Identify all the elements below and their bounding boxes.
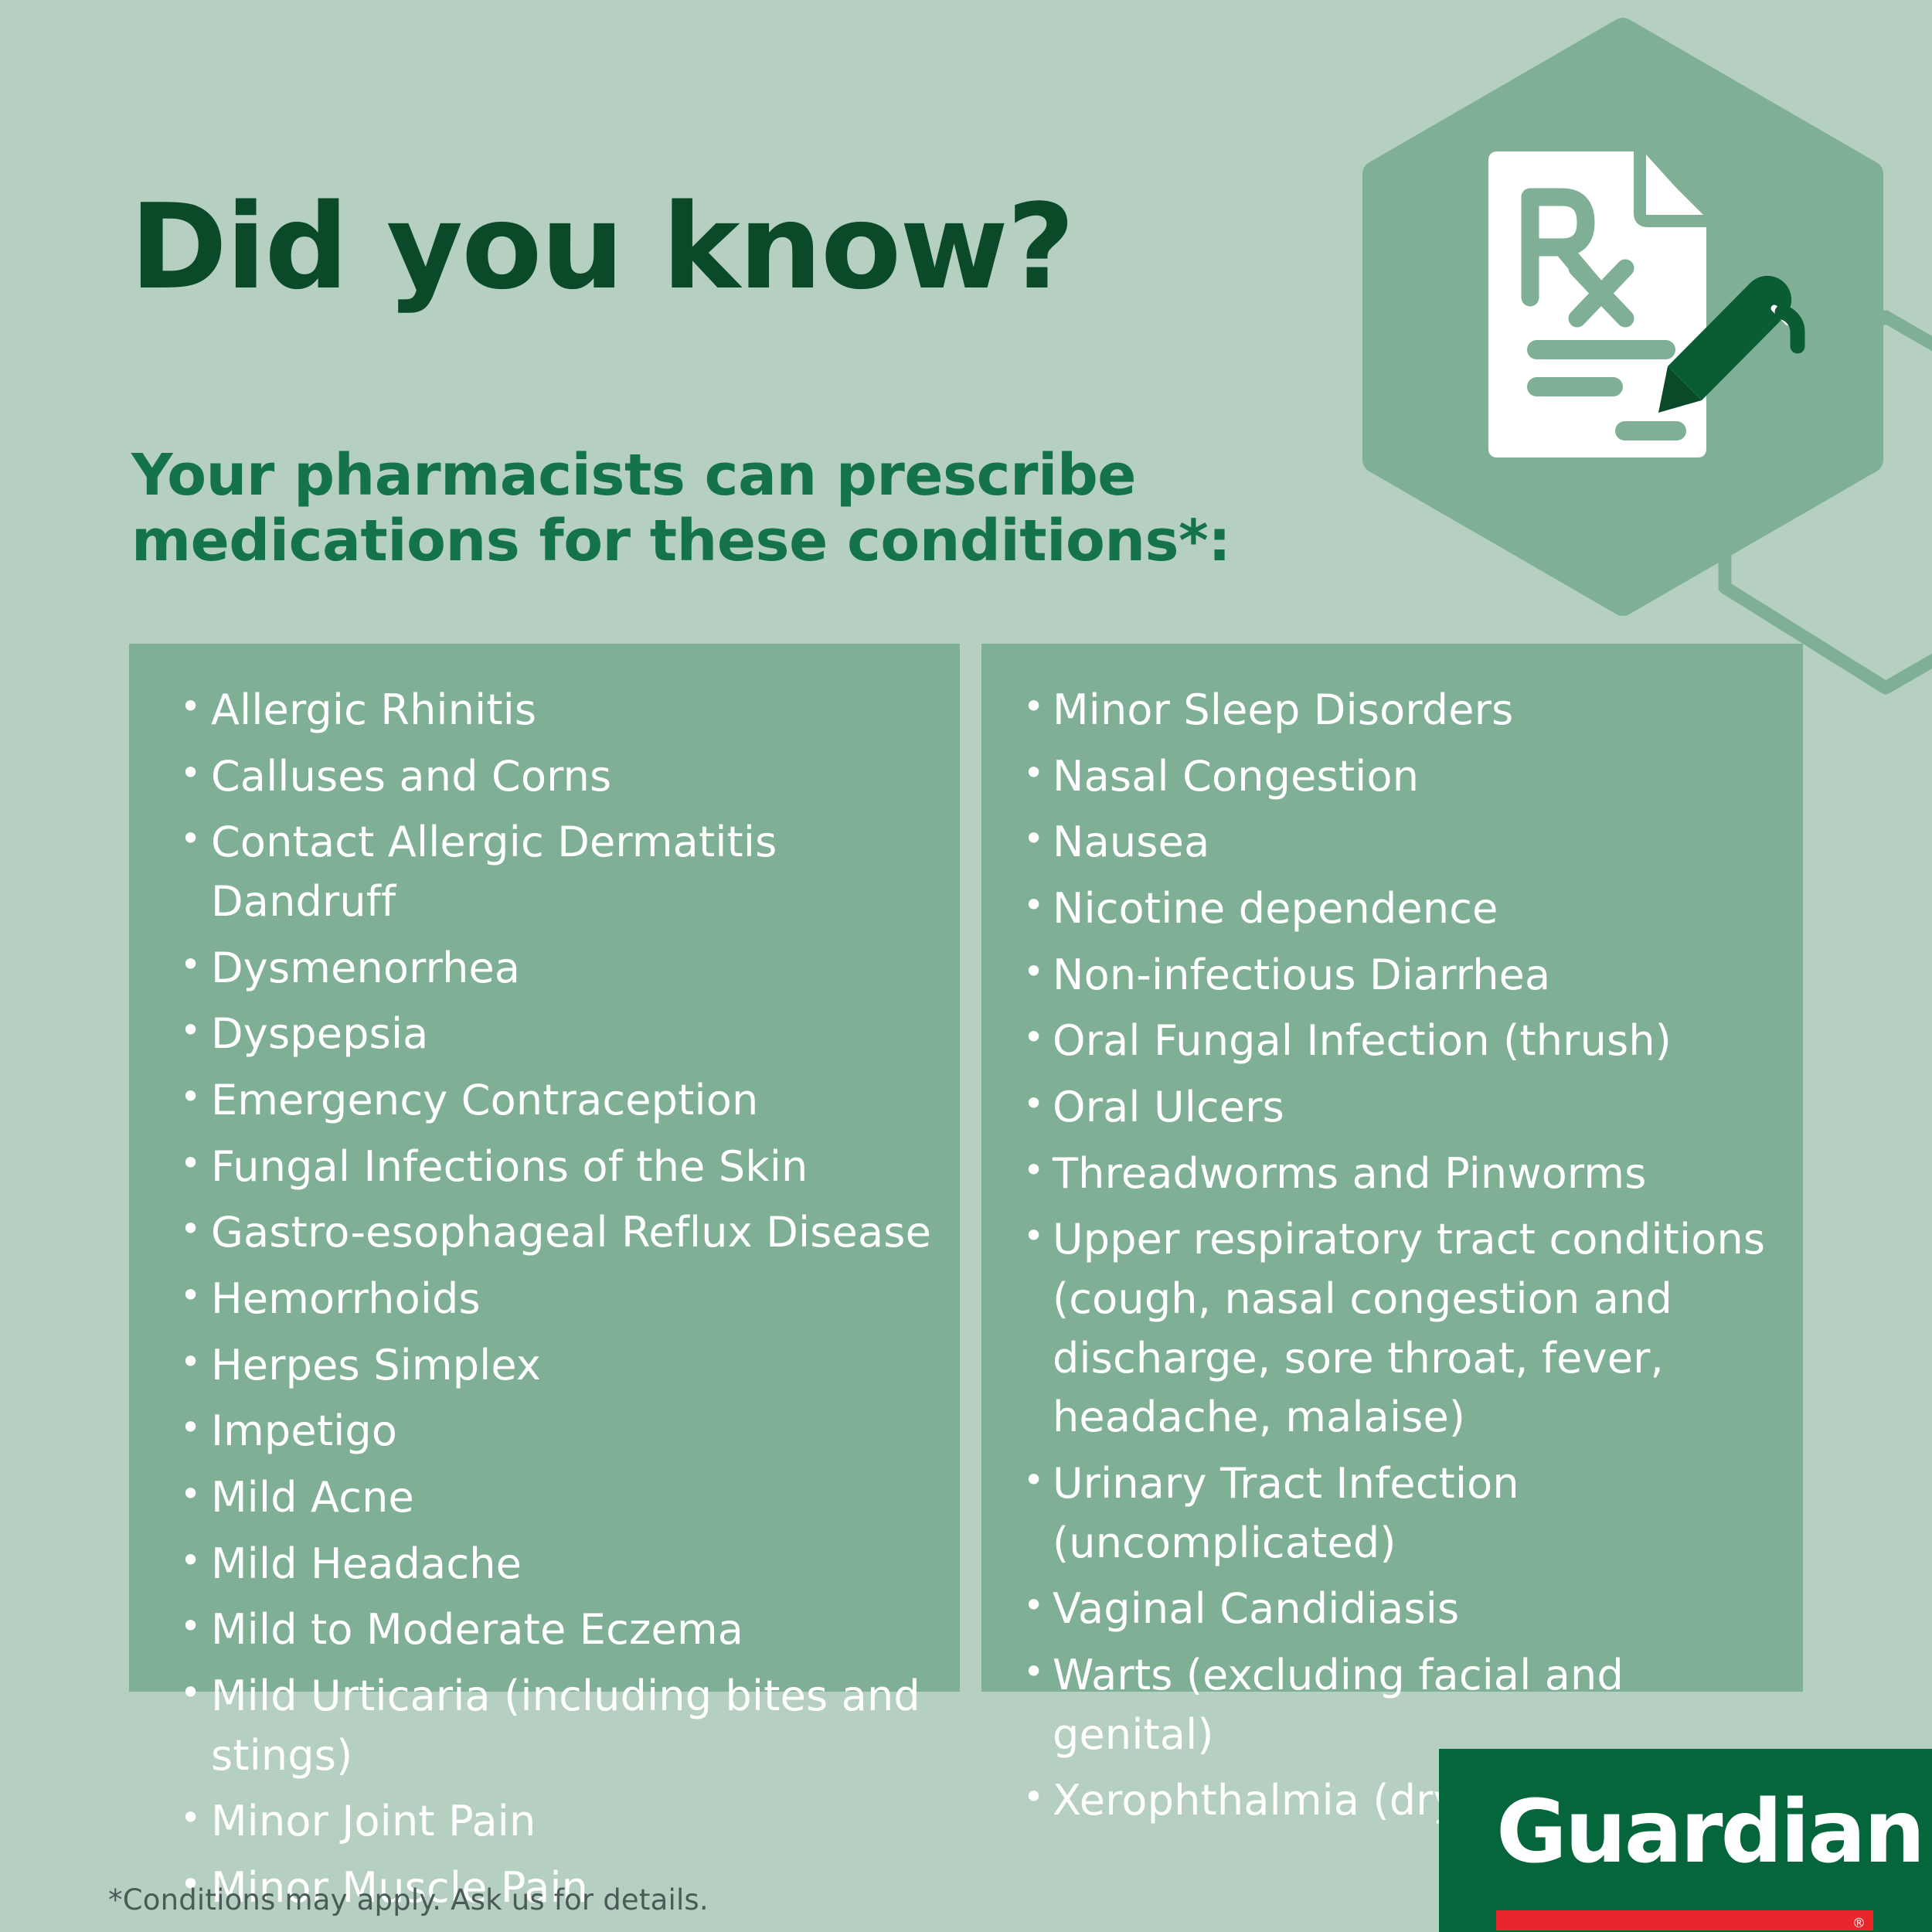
conditions-list-right: Minor Sleep DisordersNasal CongestionNau…: [1019, 681, 1787, 1831]
condition-list-item: Nasal Congestion: [1019, 747, 1787, 807]
guardian-wordmark: Guardian: [1496, 1789, 1923, 1876]
prescription-document-icon: [1488, 151, 1798, 457]
conditions-panel-left: Allergic RhinitisCalluses and CornsConta…: [129, 644, 960, 1692]
hexagon-shape: [1376, 31, 1870, 603]
condition-list-item: Threadworms and Pinworms: [1019, 1145, 1787, 1204]
guardian-logo-rule: ®: [1496, 1910, 1873, 1930]
condition-list-item: Mild to Moderate Eczema: [175, 1600, 944, 1660]
condition-list-item: Fungal Infections of the Skin: [175, 1138, 944, 1197]
condition-list-item: Mild Acne: [175, 1468, 944, 1528]
condition-list-item: Warts (excluding facial and genital): [1019, 1646, 1787, 1764]
condition-list-item: Upper respiratory tract conditions (coug…: [1019, 1210, 1787, 1447]
page-title: Did you know?: [130, 187, 1073, 307]
condition-list-item: Allergic Rhinitis: [175, 681, 944, 740]
subtitle-line-1: Your pharmacists can prescribe: [131, 443, 1230, 508]
condition-list-item: Emergency Contraception: [175, 1071, 944, 1131]
condition-list-item: Urinary Tract Infection (uncomplicated): [1019, 1454, 1787, 1573]
conditions-panel-right: Minor Sleep DisordersNasal CongestionNau…: [981, 644, 1803, 1692]
condition-list-item: Contact Allergic Dermatitis Dandruff: [175, 813, 944, 931]
registered-trademark-icon: ®: [1852, 1913, 1866, 1932]
condition-list-item: Oral Ulcers: [1019, 1078, 1787, 1138]
pencil-icon: [1658, 276, 1798, 413]
condition-list-item: Nicotine dependence: [1019, 879, 1787, 939]
hexagon-outline-shape: [1725, 317, 1932, 688]
conditions-list-left: Allergic RhinitisCalluses and CornsConta…: [175, 681, 944, 1918]
condition-list-item: Dysmenorrhea: [175, 939, 944, 998]
condition-list-item: Herpes Simplex: [175, 1336, 944, 1396]
guardian-logo: Guardian ®: [1439, 1749, 1932, 1932]
condition-list-item: Gastro-esophageal Reflux Disease: [175, 1203, 944, 1263]
condition-list-item: Oral Fungal Infection (thrush): [1019, 1012, 1787, 1071]
condition-list-item: Non-infectious Diarrhea: [1019, 946, 1787, 1005]
condition-list-item: Mild Urticaria (including bites and stin…: [175, 1667, 944, 1785]
condition-list-item: Dyspepsia: [175, 1005, 944, 1064]
disclaimer-note: *Conditions may apply. Ask us for detail…: [108, 1883, 709, 1917]
condition-list-item: Mild Headache: [175, 1535, 944, 1594]
condition-list-item: Minor Sleep Disorders: [1019, 681, 1787, 740]
condition-list-item: Calluses and Corns: [175, 747, 944, 807]
condition-list-item: Minor Joint Pain: [175, 1792, 944, 1852]
hexagon-decoration-group: [1345, 0, 1932, 696]
condition-list-item: Impetigo: [175, 1402, 944, 1461]
subtitle-line-2: medications for these conditions*:: [131, 509, 1230, 573]
condition-list-item: Hemorrhoids: [175, 1270, 944, 1329]
condition-list-item: Vaginal Candidiasis: [1019, 1580, 1787, 1639]
page-subtitle: Your pharmacists can prescribe medicatio…: [131, 443, 1230, 573]
condition-list-item: Nausea: [1019, 813, 1787, 872]
